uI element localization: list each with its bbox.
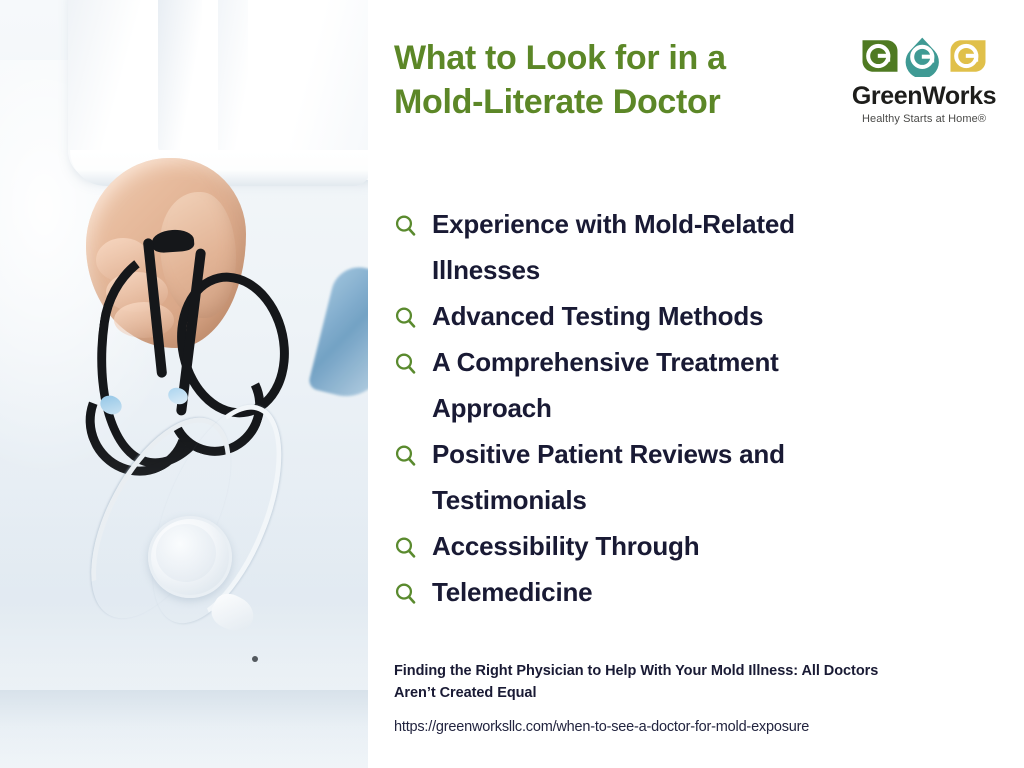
list-item: Experience with Mold-Related [394, 202, 1002, 248]
droplet-g-mark-icon [903, 35, 945, 82]
coat-fold [158, 0, 202, 156]
list-item: Advanced Testing Methods [394, 294, 1002, 340]
list-item-label: Advanced Testing Methods [432, 294, 763, 338]
list-item: Accessibility Through [394, 524, 1002, 570]
magnifier-icon [394, 294, 420, 340]
list-item-label: Experience with Mold-Related [432, 202, 795, 246]
list-item-label: Accessibility Through [432, 524, 699, 568]
list-item: Positive Patient Reviews and [394, 432, 1002, 478]
list-item-label: Telemedicine [432, 570, 592, 614]
photo-floor-shadow [0, 690, 368, 768]
magnifier-icon [394, 524, 420, 570]
source-article-url[interactable]: https://greenworksllc.com/when-to-see-a-… [394, 719, 1004, 735]
list-item-label: Illnesses [432, 248, 540, 292]
list-item-label: Positive Patient Reviews and [432, 432, 785, 476]
list-item: A Comprehensive Treatment [394, 340, 1002, 386]
logo-marks [850, 38, 998, 82]
coat-fold [218, 0, 248, 150]
magnifier-icon [394, 202, 420, 248]
source-article-title: Finding the Right Physician to Help With… [394, 660, 914, 705]
list-item: Illnesses [394, 248, 1002, 294]
doctor-stethoscope-photo [0, 0, 368, 768]
logo-wordmark: GreenWorks [850, 83, 998, 111]
infographic-page: What to Look for in a Mold-Literate Doct… [0, 0, 1024, 768]
list-item: Telemedicine [394, 570, 1002, 616]
magnifier-icon [394, 432, 420, 478]
list-item: Approach [394, 386, 1002, 432]
list-item-label: Testimonials [432, 478, 587, 522]
house-g-mark-icon [947, 35, 989, 82]
content-panel: What to Look for in a Mold-Literate Doct… [368, 0, 1024, 768]
magnifier-icon [394, 570, 420, 616]
logo-tagline: Healthy Starts at Home® [850, 113, 998, 125]
header-row: What to Look for in a Mold-Literate Doct… [394, 36, 998, 125]
leaf-g-mark-icon [859, 35, 901, 82]
magnifier-icon [394, 340, 420, 386]
page-title: What to Look for in a Mold-Literate Doct… [394, 36, 824, 124]
list-item: Testimonials [394, 478, 1002, 524]
list-item-label: Approach [432, 386, 552, 430]
list-item-label: A Comprehensive Treatment [432, 340, 779, 384]
checklist: Experience with Mold-Related Illnesses A… [394, 202, 1002, 616]
stethoscope-stem-tip [252, 656, 258, 662]
footer: Finding the Right Physician to Help With… [394, 660, 1004, 735]
greenworks-logo: GreenWorks Healthy Starts at Home® [850, 38, 998, 125]
stethoscope-diaphragm [156, 524, 216, 582]
